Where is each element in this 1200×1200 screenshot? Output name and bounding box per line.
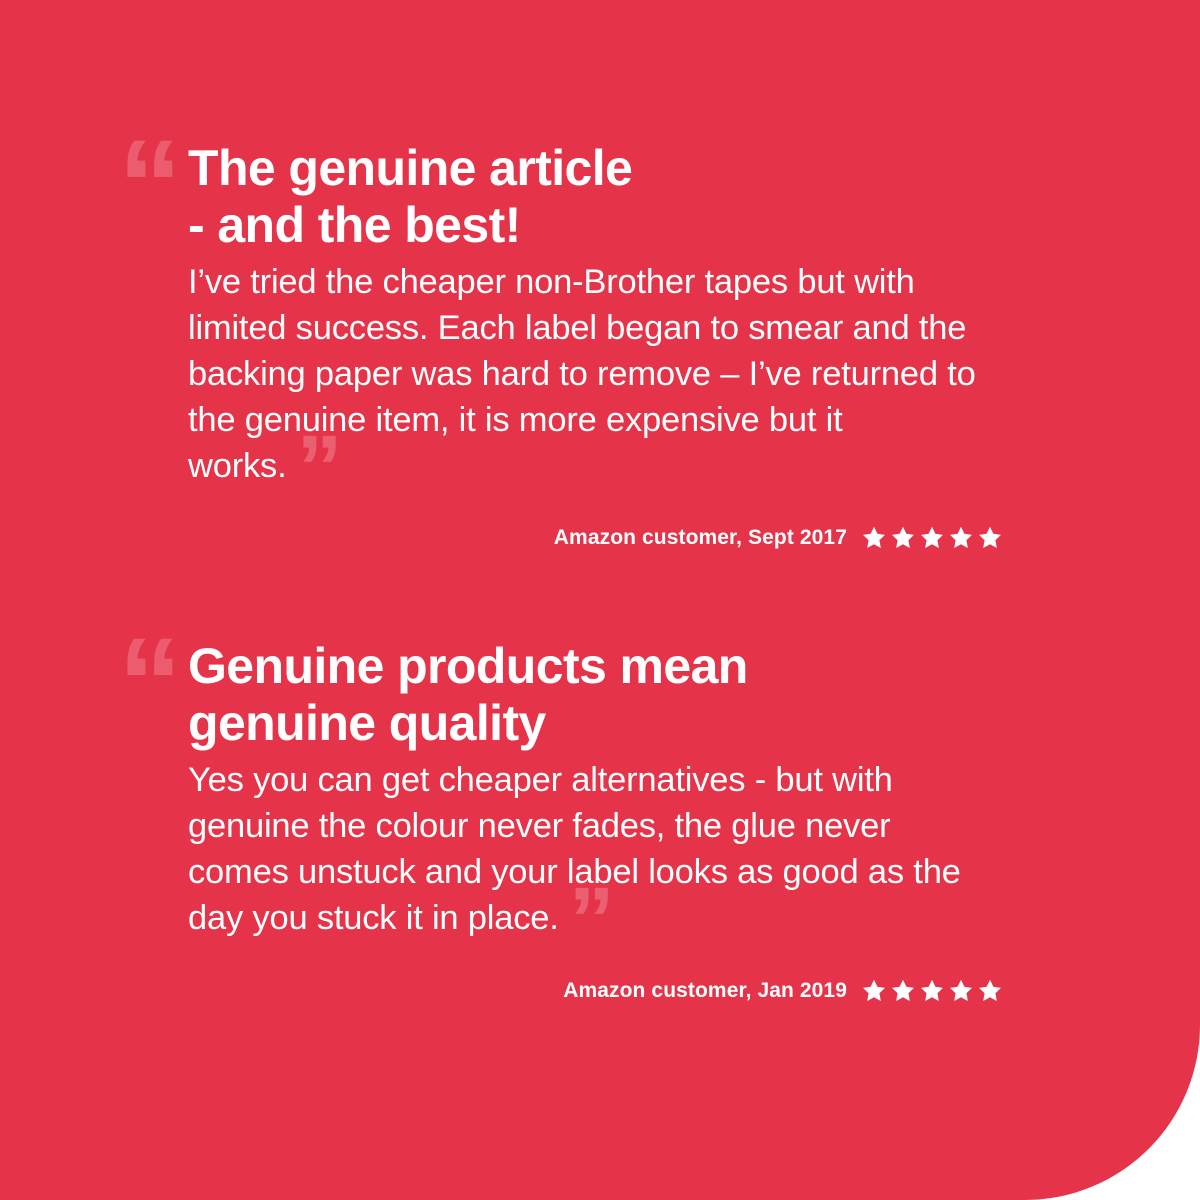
star-icon bbox=[977, 978, 1003, 1004]
close-quote-icon: ” bbox=[569, 869, 613, 971]
star-rating bbox=[861, 525, 1003, 551]
star-icon bbox=[890, 978, 916, 1004]
star-rating bbox=[861, 978, 1003, 1004]
star-icon bbox=[890, 525, 916, 551]
open-quote-icon: “ bbox=[118, 122, 180, 250]
testimonial-text-column-1: The genuine article - and the best! I’ve… bbox=[188, 140, 1018, 489]
attribution-label: Amazon customer, Jan 2019 bbox=[563, 979, 847, 1003]
attribution-label: Amazon customer, Sept 2017 bbox=[554, 526, 847, 550]
star-icon bbox=[919, 525, 945, 551]
star-icon bbox=[977, 525, 1003, 551]
testimonial-block-1: “ The genuine article - and the best! I’… bbox=[118, 140, 1018, 489]
star-icon bbox=[948, 978, 974, 1004]
star-icon bbox=[919, 978, 945, 1004]
testimonial-block-2: “ Genuine products mean genuine quality … bbox=[118, 638, 1018, 942]
open-quote-icon: “ bbox=[118, 620, 180, 748]
testimonial-body: Yes you can get cheaper alternatives - b… bbox=[188, 758, 1000, 942]
star-icon bbox=[861, 978, 887, 1004]
testimonials-content: “ The genuine article - and the best! I’… bbox=[0, 0, 1200, 1200]
star-icon bbox=[948, 525, 974, 551]
close-quote-icon: ” bbox=[296, 417, 340, 519]
testimonial-attribution-1: Amazon customer, Sept 2017 bbox=[554, 525, 1003, 551]
testimonial-heading: Genuine products mean genuine quality bbox=[188, 638, 1018, 752]
testimonial-heading: The genuine article - and the best! bbox=[188, 140, 1018, 254]
testimonial-attribution-2: Amazon customer, Jan 2019 bbox=[563, 978, 1003, 1004]
testimonial-card: “ The genuine article - and the best! I’… bbox=[0, 0, 1200, 1200]
testimonial-text-column-2: Genuine products mean genuine quality Ye… bbox=[188, 638, 1018, 942]
testimonial-body: I’ve tried the cheaper non-Brother tapes… bbox=[188, 260, 1000, 489]
star-icon bbox=[861, 525, 887, 551]
